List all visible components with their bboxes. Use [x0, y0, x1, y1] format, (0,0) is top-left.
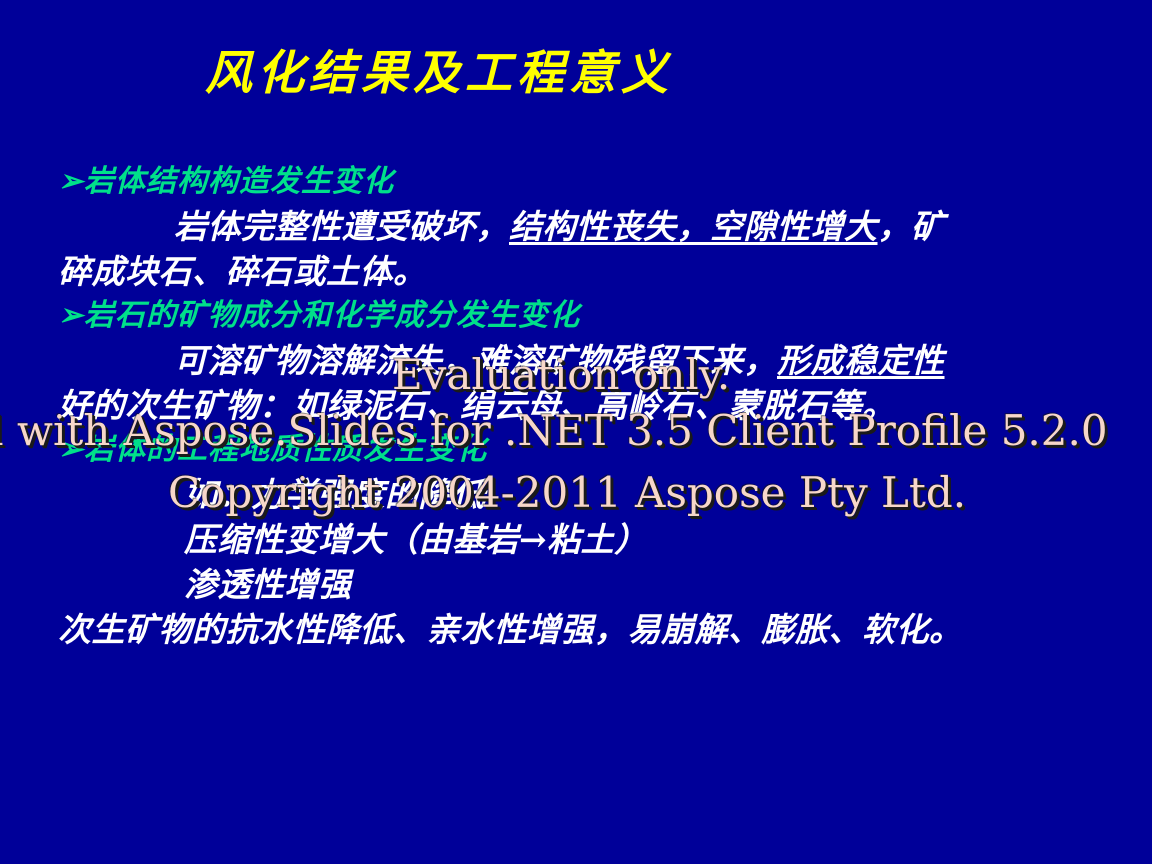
presentation-slide: 风化结果及工程意义 ➢ 岩体结构构造发生变化 岩体完整性遭受破坏，结构性丧失，空… — [0, 0, 1152, 864]
underlined-run-1: 结构性丧失，空隙性增大 — [509, 207, 878, 246]
bullet-3-body-line-3: 渗透性增强 — [0, 562, 1152, 607]
bullet-3-body-line-4: 次生矿物的抗水性降低、亲水性增强，易崩解、膨胀、软化。 — [0, 607, 1152, 652]
bullet-item-1: ➢ 岩体结构构造发生变化 — [0, 160, 1152, 204]
bullet-1-body-line-2: 碎成块石、碎石或土体。 — [0, 249, 1152, 294]
bullet-1-body-line-1: 岩体完整性遭受破坏，结构性丧失，空隙性增大，矿 — [0, 204, 1152, 249]
arrow-bullet-icon: ➢ — [58, 428, 84, 472]
bullet-3-body-line-2: 压缩性变增大（由基岩→粘土） — [0, 517, 1152, 562]
bullet-2-body-line-2: 好的次生矿物：如绿泥石、绢云母、高岭石、蒙脱石等。 — [0, 383, 1152, 428]
arrow-bullet-icon: ➢ — [58, 160, 84, 204]
slide-body: ➢ 岩体结构构造发生变化 岩体完整性遭受破坏，结构性丧失，空隙性增大，矿 碎成块… — [0, 160, 1152, 652]
bullet-2-body-line-1: 可溶矿物溶解流失，难溶矿物残留下来，形成稳定性 — [0, 338, 1152, 383]
text-run-plain-2a: 可溶矿物溶解流失，难溶矿物残留下来， — [174, 341, 777, 380]
text-run-plain-1a: 岩体完整性遭受破坏， — [174, 207, 509, 246]
text-run-plain-1b: ，矿 — [878, 207, 945, 246]
slide-title: 风化结果及工程意义 — [205, 48, 965, 100]
bullet-item-2-label: 岩石的矿物成分和化学成分发生变化 — [84, 298, 580, 333]
bullet-item-3: ➢ 岩体的工程地质性质发生变化 — [0, 428, 1152, 472]
bullet-item-2: ➢ 岩石的矿物成分和化学成分发生变化 — [0, 294, 1152, 338]
underlined-run-2: 形成稳定性 — [777, 341, 945, 380]
bullet-item-3-label: 岩体的工程地质性质发生变化 — [84, 432, 487, 467]
bullet-3-body-line-1: 如：力学强度的降低 — [0, 472, 1152, 517]
arrow-bullet-icon: ➢ — [58, 294, 84, 338]
bullet-item-1-label: 岩体结构构造发生变化 — [84, 164, 394, 199]
